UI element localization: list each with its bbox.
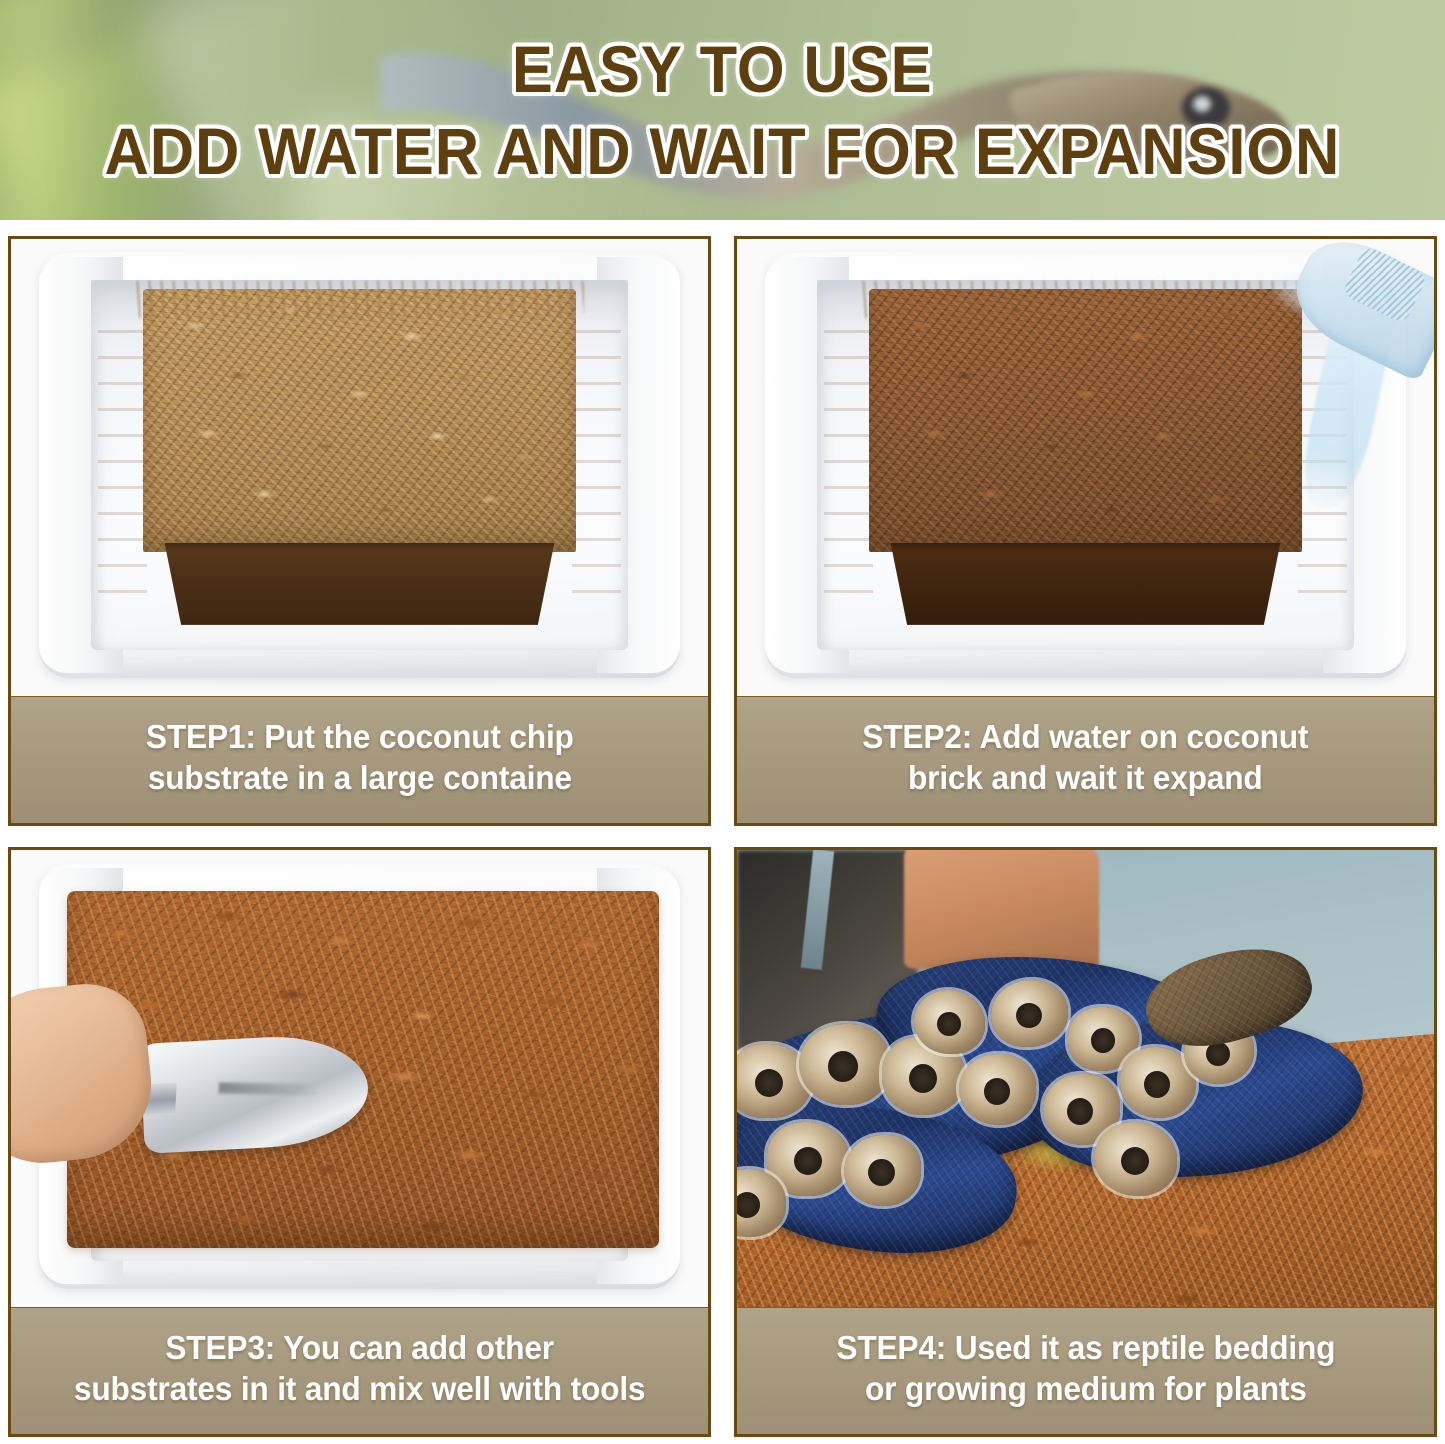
brick-top-surface — [869, 289, 1301, 552]
step3-caption-text: STEP3: You can add other substrates in i… — [74, 1328, 645, 1410]
step3-caption-line1: STEP3: You can add other — [165, 1329, 554, 1366]
step-card-3: STEP3: You can add other substrates in i… — [8, 847, 711, 1437]
brick-front-face — [878, 543, 1293, 625]
snake-blotch — [1094, 1122, 1177, 1196]
brick-front-face — [152, 543, 567, 625]
snake-blotch — [799, 1024, 889, 1105]
step2-caption-bar: STEP2: Add water on coconut brick and wa… — [737, 696, 1434, 823]
step1-caption-text: STEP1: Put the coconut chip substrate in… — [146, 717, 574, 799]
brick-top-surface — [143, 289, 575, 552]
tray-measure-marks-left — [98, 330, 147, 604]
trowel-blade-ridge — [219, 1083, 319, 1096]
step1-caption-bar: STEP1: Put the coconut chip substrate in… — [11, 696, 708, 823]
tray-measure-marks-left — [824, 330, 873, 604]
step1-caption-line2: substrate in a large containe — [147, 759, 571, 796]
brick-fiber-fuzz — [861, 281, 1310, 318]
step3-tray-scene — [11, 850, 708, 1307]
step4-caption-line2: or growing medium for plants — [865, 1370, 1307, 1407]
steps-grid: STEP1: Put the coconut chip substrate in… — [8, 236, 1437, 1436]
step1-photo — [11, 239, 708, 696]
step2-caption-line1: STEP2: Add water on coconut — [862, 718, 1308, 755]
coir-fiber-fuzz — [102, 913, 623, 945]
snake-blotch — [844, 1135, 921, 1206]
coconut-coir-brick-wet — [869, 289, 1301, 618]
snake-blotch — [914, 990, 985, 1054]
step4-caption-bar: STEP4: Used it as reptile bedding or gro… — [737, 1307, 1434, 1434]
step1-tray-scene — [11, 239, 708, 696]
hand-thumb — [11, 1060, 13, 1092]
step-card-2: STEP2: Add water on coconut brick and wa… — [734, 236, 1437, 826]
snake-blotch — [959, 1054, 1036, 1125]
step3-photo — [11, 850, 708, 1307]
step1-caption-line1: STEP1: Put the coconut chip — [146, 718, 574, 755]
product-infographic: EASY TO USE ADD WATER AND WAIT FOR EXPAN… — [0, 0, 1445, 1444]
banner-headline-line2: ADD WATER AND WAIT FOR EXPANSION — [105, 118, 1341, 184]
step4-photo — [737, 850, 1434, 1307]
step-card-4: STEP4: Used it as reptile bedding or gro… — [734, 847, 1437, 1437]
step3-caption-line2: substrates in it and mix well with tools — [74, 1370, 645, 1407]
brick-fiber-fuzz — [135, 281, 584, 318]
step3-caption-bar: STEP3: You can add other substrates in i… — [11, 1307, 708, 1434]
step2-photo — [737, 239, 1434, 696]
step2-caption-text: STEP2: Add water on coconut brick and wa… — [862, 717, 1308, 799]
step-card-1: STEP1: Put the coconut chip substrate in… — [8, 236, 711, 826]
step2-tray-scene — [737, 239, 1434, 696]
step4-caption-line1: STEP4: Used it as reptile bedding — [836, 1329, 1335, 1366]
coconut-coir-brick-dry — [143, 289, 575, 618]
banner-headline-line1: EASY TO USE — [512, 36, 933, 102]
ball-python-icon — [737, 932, 1350, 1270]
snake-blotch — [991, 980, 1068, 1048]
tray-measure-marks-right — [572, 330, 621, 604]
banner-headline: EASY TO USE ADD WATER AND WAIT FOR EXPAN… — [0, 0, 1445, 220]
step2-caption-line2: brick and wait it expand — [908, 759, 1263, 796]
step4-caption-text: STEP4: Used it as reptile bedding or gro… — [836, 1328, 1335, 1410]
header-banner: EASY TO USE ADD WATER AND WAIT FOR EXPAN… — [0, 0, 1445, 220]
